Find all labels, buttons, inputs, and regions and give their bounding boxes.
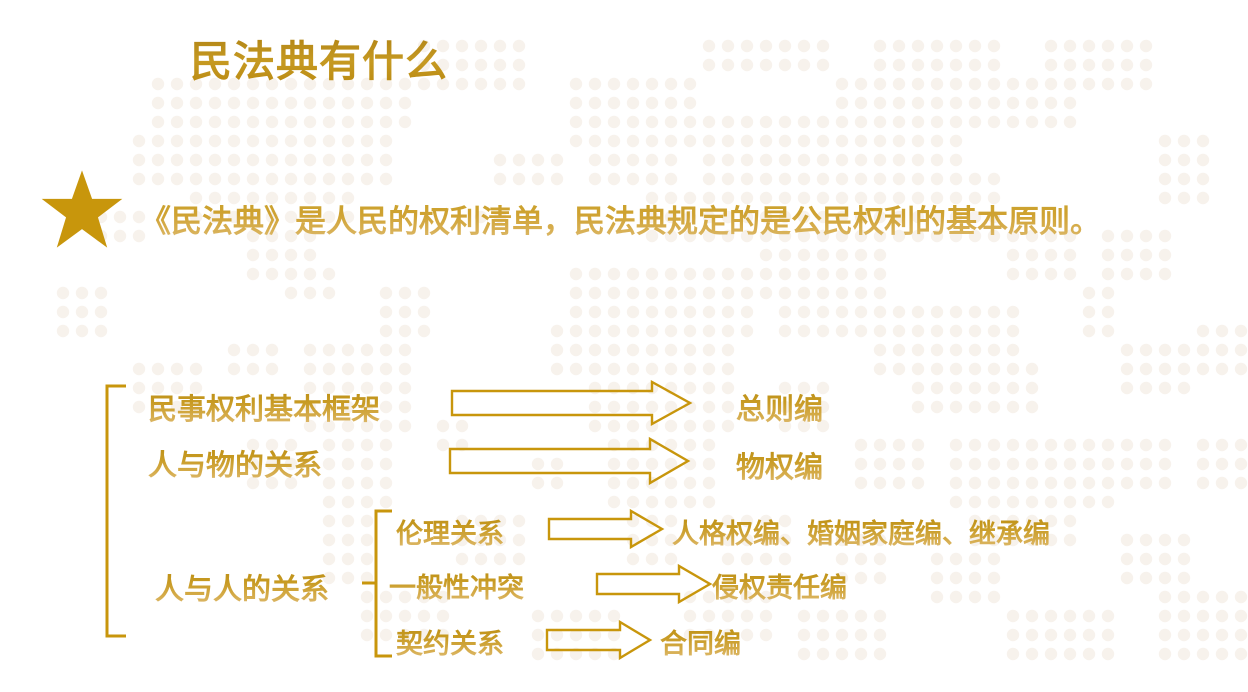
diagram-source-label: 民事权利基本框架 xyxy=(148,386,380,428)
right-block-arrow-icon xyxy=(450,439,688,483)
diagram-source-label: 伦理关系 xyxy=(396,512,504,551)
diagram-target-label: 总则编 xyxy=(736,386,823,428)
slide-canvas: 民法典有什么 《民法典》是人民的权利清单，民法典规定的是公民权利的基本原则。 xyxy=(0,0,1248,692)
diagram-target-label: 人格权编、婚姻家庭编、继承编 xyxy=(672,512,1050,551)
diagram-target-label: 侵权责任编 xyxy=(712,566,847,605)
right-block-arrow-icon xyxy=(549,511,662,547)
diagram-target-label: 合同编 xyxy=(660,622,741,661)
diagram-source-label: 契约关系 xyxy=(396,622,504,661)
diagram-group-label: 人与人的关系 xyxy=(155,566,329,608)
right-block-arrow-icon xyxy=(452,382,690,424)
outer-left-bracket xyxy=(107,386,126,636)
inner-left-bracket xyxy=(362,511,392,656)
diagram-source-label: 一般性冲突 xyxy=(389,566,524,605)
diagram-target-label: 物权编 xyxy=(736,444,823,486)
diagram-source-label: 人与物的关系 xyxy=(148,442,322,484)
right-block-arrow-icon xyxy=(597,566,710,602)
right-block-arrow-icon xyxy=(547,622,650,658)
